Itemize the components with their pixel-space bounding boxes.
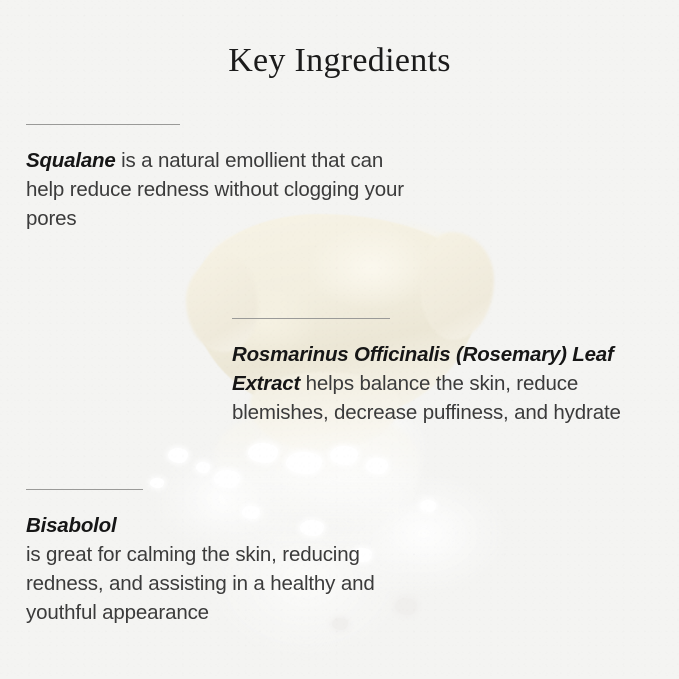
ingredient-description: Bisabololis great for calming the skin, … [26,511,426,627]
ingredient-body: is great for calming the skin, reducing … [26,543,375,624]
ingredient-section-squalane: Squalane is a natural emollient that can… [26,124,426,253]
ingredient-description: Rosmarinus Officinalis (Rosemary) Leaf E… [232,340,652,427]
section-divider [232,318,390,319]
content-layer: Key Ingredients Squalane is a natural em… [0,0,679,679]
key-ingredients-panel: Key Ingredients Squalane is a natural em… [0,0,679,679]
ingredient-name: Squalane [26,149,116,172]
ingredient-description: Squalane is a natural emollient that can… [26,146,426,233]
ingredient-section-bisabolol: Bisabololis great for calming the skin, … [26,489,426,647]
page-title: Key Ingredients [0,42,679,80]
ingredient-name: Bisabolol [26,511,426,540]
section-divider [26,489,143,490]
ingredient-section-rosemary: Rosmarinus Officinalis (Rosemary) Leaf E… [232,318,652,447]
section-divider [26,124,180,125]
